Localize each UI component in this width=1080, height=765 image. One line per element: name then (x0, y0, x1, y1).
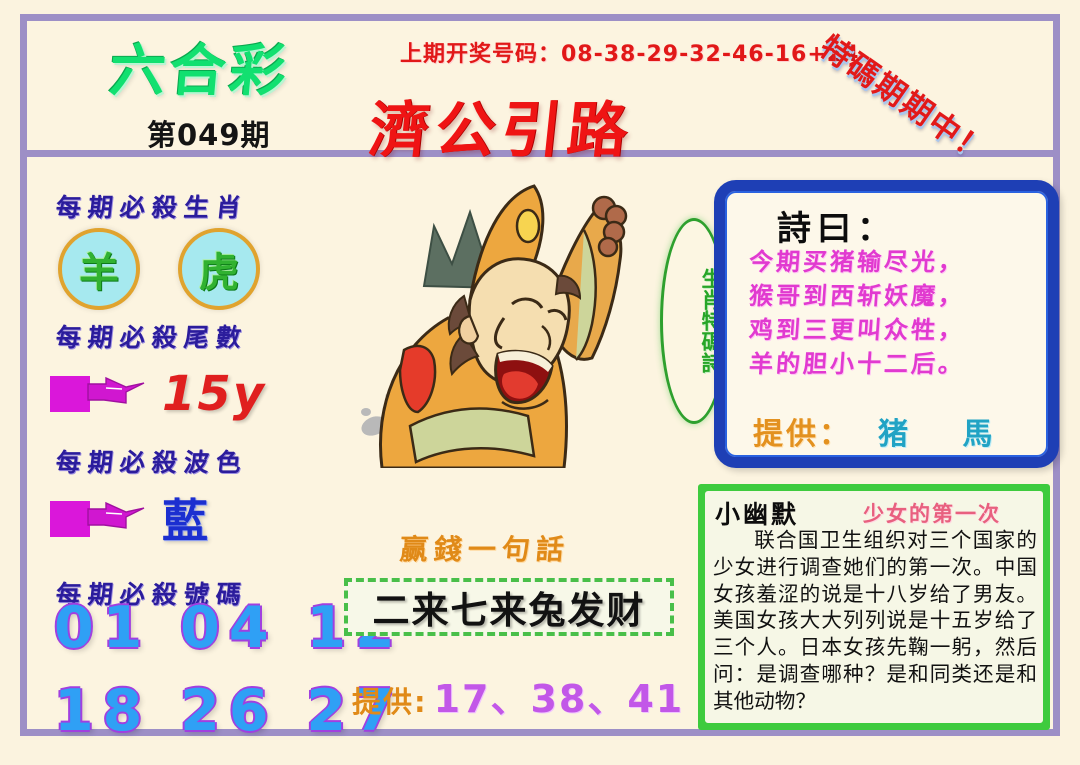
poem-heading: 詩曰： (777, 201, 897, 250)
win-money-phrase-label: 赢錢一句話 (398, 528, 572, 568)
magenta-block-2 (50, 501, 90, 537)
jigong-monk-cartoon-icon (352, 168, 662, 468)
label-kill-tail: 每期必殺尾數 (54, 318, 250, 354)
zodiac-circle-2: 虎 (178, 228, 260, 310)
joke-box: 小幽默 少女的第一次 联合国卫生组织对三个国家的少女进行调查她们的第一次。中国女… (698, 484, 1050, 730)
poem-line-1: 今期买猪输尽光， (748, 245, 1041, 279)
zodiac-circles: 羊 虎 (58, 228, 288, 308)
center-supplier-numbers: 17、38、41 (434, 677, 685, 721)
center-supplier-label: 提供: (352, 685, 428, 719)
poem-supplier-row: 提供：猪 馬 (753, 409, 1014, 453)
poem-line-2: 猴哥到西斩妖魔， (748, 279, 1041, 313)
magenta-block-1 (50, 376, 90, 412)
label-kill-color: 每期必殺波色 (54, 443, 250, 479)
poem-supplier-animals: 猪 馬 (878, 417, 1014, 452)
label-kill-zodiac: 每期必殺生肖 (54, 188, 250, 224)
tail-value: 15y (162, 366, 266, 422)
win-money-phrase-box: 二来七来兔发财 (344, 578, 674, 636)
joke-title: 小幽默 (715, 495, 799, 531)
poem-line-3: 鸡到三更叫众牲， (748, 313, 1041, 347)
zodiac-char-1: 羊 (62, 240, 136, 298)
zodiac-char-2: 虎 (182, 240, 256, 298)
win-money-phrase: 二来七来兔发财 (348, 580, 670, 634)
pointing-hand-icon-2 (86, 495, 148, 543)
page-title: 濟公引路 (365, 82, 638, 169)
joke-subtitle: 少女的第一次 (863, 498, 1001, 528)
poem-lines: 今期买猪输尽光， 猴哥到西斩妖魔， 鸡到三更叫众牲， 羊的胆小十二后。 (749, 245, 1040, 381)
poem-line-4: 羊的胆小十二后。 (748, 347, 1041, 381)
lottery-poster: 六合彩 第049期 上期开奖号码：08-38-29-32-46-16+24 濟公… (0, 0, 1080, 765)
issue-number: 第049期 (147, 112, 271, 154)
brand-title: 六合彩 (106, 26, 293, 107)
zodiac-circle-1: 羊 (58, 228, 140, 310)
pointing-hand-icon-1 (86, 370, 148, 418)
center-supplier-row: 提供:17、38、41 (352, 668, 684, 723)
last-draw-numbers: 上期开奖号码：08-38-29-32-46-16+24 (400, 36, 859, 68)
poem-box: 詩曰： 今期买猪输尽光， 猴哥到西斩妖魔， 鸡到三更叫众牲， 羊的胆小十二后。 … (714, 180, 1059, 468)
color-value: 藍 (162, 485, 210, 551)
joke-header: 小幽默 少女的第一次 (715, 495, 1035, 525)
joke-body-text: 联合国卫生组织对三个国家的少女进行调查她们的第一次。中国女孩羞涩的说是十八岁给了… (713, 527, 1037, 719)
poem-supplier-label: 提供： (753, 417, 852, 452)
